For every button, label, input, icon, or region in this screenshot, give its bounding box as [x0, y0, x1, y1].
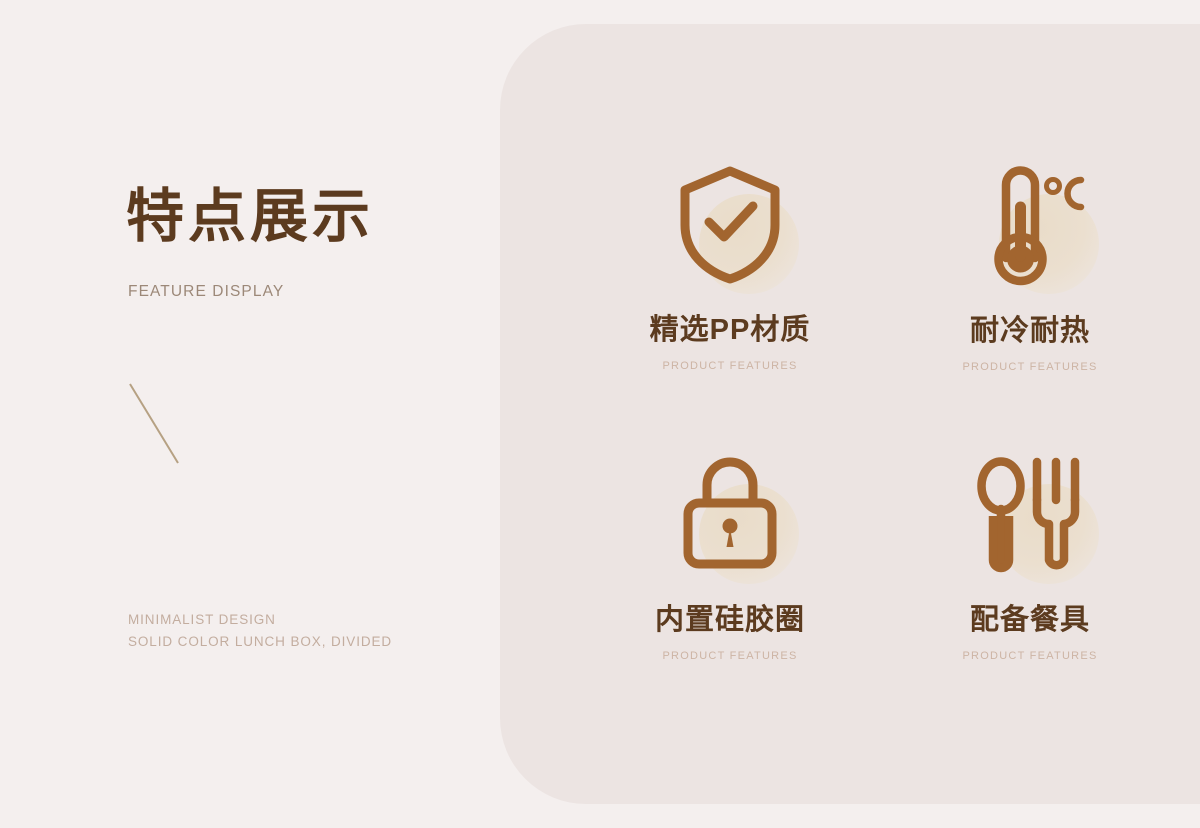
page-title: 特点展示: [126, 183, 374, 251]
page-subtitle: FEATURE DISPLAY: [128, 283, 284, 301]
feature-grid: 精选PP材质 PRODUCT FEATURES 耐冷耐热: [580, 150, 1180, 730]
spoon-fork-icon: [974, 456, 1086, 574]
feature-icon-wrapper: [655, 150, 805, 300]
feature-icon-wrapper: [955, 440, 1105, 590]
feature-caption: PRODUCT FEATURES: [662, 650, 797, 662]
feature-caption: PRODUCT FEATURES: [962, 650, 1097, 662]
feature-card-pp-material[interactable]: 精选PP材质 PRODUCT FEATURES: [580, 150, 880, 440]
lock-icon: [674, 455, 786, 575]
feature-caption: PRODUCT FEATURES: [962, 361, 1097, 373]
feature-title: 耐冷耐热: [970, 317, 1090, 346]
feature-title: 配备餐具: [970, 606, 1090, 635]
left-column: 特点展示 FEATURE DISPLAY MINIMALIST DESIGN S…: [0, 0, 500, 828]
feature-card-utensils-included[interactable]: 配备餐具 PRODUCT FEATURES: [880, 440, 1180, 730]
diagonal-accent-line: [128, 381, 188, 467]
poster-canvas: 特点展示 FEATURE DISPLAY MINIMALIST DESIGN S…: [0, 0, 1200, 828]
feature-icon-wrapper: [955, 150, 1105, 300]
feature-title: 精选PP材质: [650, 316, 811, 345]
feature-card-temperature-resistant[interactable]: 耐冷耐热 PRODUCT FEATURES: [880, 150, 1180, 440]
feature-caption: PRODUCT FEATURES: [662, 360, 797, 372]
feature-title: 内置硅胶圈: [655, 606, 805, 635]
feature-card-silicone-ring[interactable]: 内置硅胶圈 PRODUCT FEATURES: [580, 440, 880, 730]
thermometer-celsius-icon: [971, 162, 1089, 288]
tagline: MINIMALIST DESIGN SOLID COLOR LUNCH BOX,…: [128, 609, 392, 653]
shield-check-icon: [674, 163, 786, 287]
feature-icon-wrapper: [655, 440, 805, 590]
tagline-line-1: MINIMALIST DESIGN: [128, 609, 392, 631]
tagline-line-2: SOLID COLOR LUNCH BOX, DIVIDED: [128, 631, 392, 653]
